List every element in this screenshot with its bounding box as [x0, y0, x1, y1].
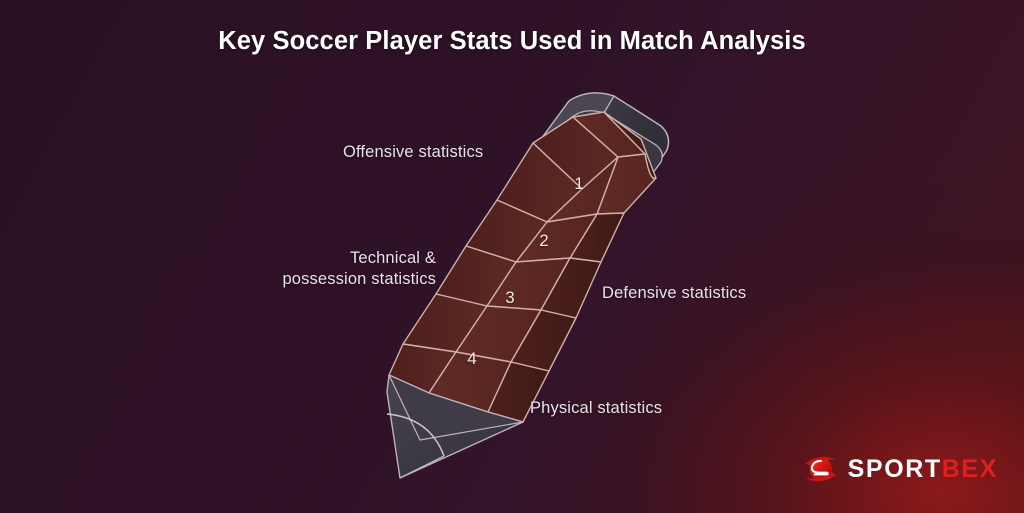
- segment-number-4: 4: [459, 349, 485, 369]
- logo-wordmark: SPORTBEX: [848, 457, 998, 482]
- callout-label-defensive: Defensive statistics: [602, 283, 746, 304]
- infographic-canvas: Key Soccer Player Stats Used in Match An…: [0, 0, 1024, 513]
- segment-number-2: 2: [531, 231, 557, 251]
- segment-number-1: 1: [566, 174, 592, 194]
- swoosh-globe-icon: [803, 451, 839, 487]
- pencil-diagram: [0, 0, 1024, 513]
- logo-word-accent: BEX: [942, 457, 998, 482]
- callout-label-technical-possession: Technical & possession statistics: [196, 248, 436, 290]
- segment-number-3: 3: [497, 288, 523, 308]
- callout-label-offensive: Offensive statistics: [343, 142, 483, 163]
- brand-logo[interactable]: SPORTBEX: [803, 451, 998, 487]
- callout-label-physical: Physical statistics: [530, 398, 662, 419]
- logo-word-primary: SPORT: [848, 457, 942, 482]
